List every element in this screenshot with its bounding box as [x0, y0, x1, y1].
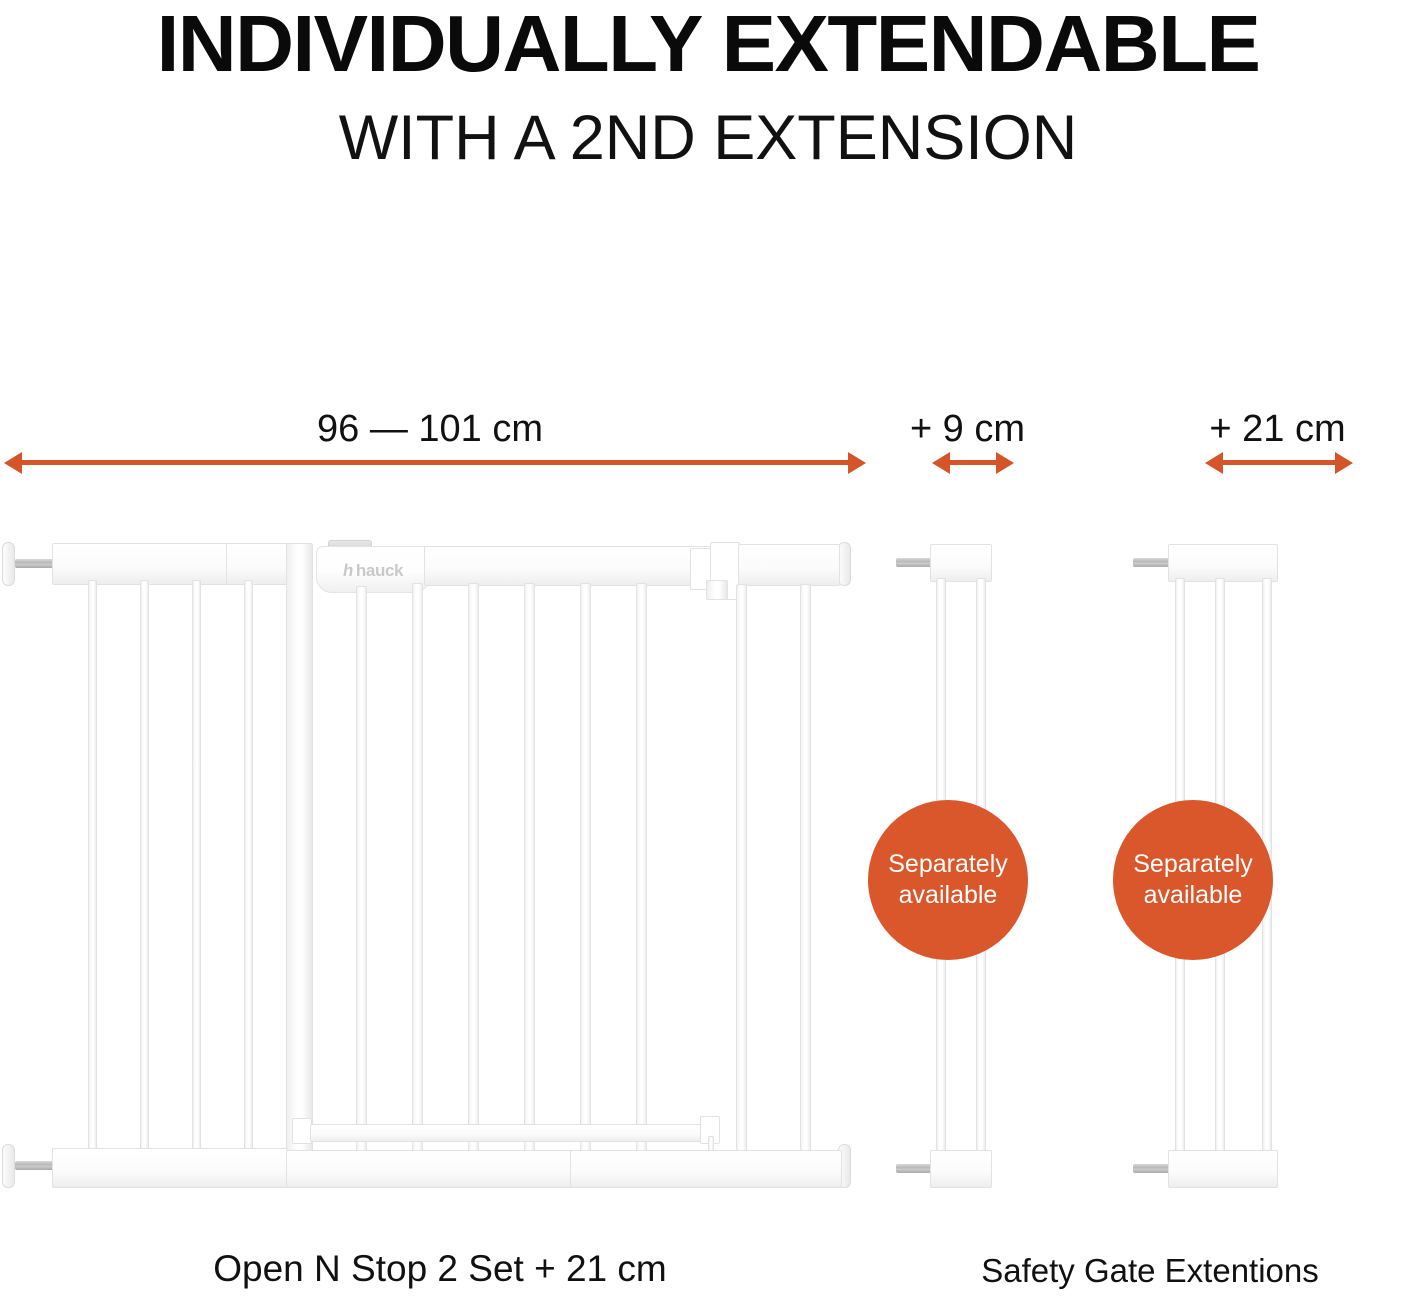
page-subtitle: WITH A 2ND EXTENSION — [0, 104, 1416, 172]
gate-door-top-rail — [424, 546, 714, 586]
gate-bottom-rail-right — [570, 1150, 842, 1188]
gate-bar-left-3 — [192, 580, 201, 1168]
gate-top-rail-left — [52, 543, 228, 585]
arrow-head-right-icon — [848, 452, 866, 474]
gate-bar-right-1 — [736, 584, 747, 1168]
gate-door-hinge-post — [286, 543, 313, 1168]
arrow-shaft — [1219, 460, 1339, 465]
dimension-label-main: 96 — 101 cm — [0, 408, 860, 451]
gate-door-bar-4 — [524, 583, 535, 1168]
arrow-head-right-icon — [1335, 452, 1353, 474]
arrow-shaft — [946, 460, 1000, 465]
arrow-head-right-icon — [996, 452, 1014, 474]
extension-large-bottom-rail — [1168, 1150, 1278, 1188]
gate-lock-stem — [706, 580, 728, 600]
extension-large-top-rail — [1168, 544, 1278, 582]
gate-bottom-rail-left — [52, 1148, 288, 1188]
gate-door-bar-2 — [412, 583, 423, 1168]
extension-small-bottom-rail — [930, 1150, 992, 1188]
status-badge-extension-small: Separately available — [868, 800, 1028, 960]
wall-pad-top-left — [2, 542, 15, 586]
gate-bar-left-1 — [88, 580, 97, 1168]
caption-extensions: Safety Gate Extentions — [890, 1252, 1410, 1290]
gate-top-rail-left-slide — [226, 543, 288, 585]
extension-small-top-rail — [930, 544, 992, 582]
dimension-arrow-main — [4, 452, 866, 474]
brand-mark-icon: h — [341, 561, 355, 581]
wall-pad-bottom-left — [2, 1144, 15, 1188]
dimension-label-extension-large: + 21 cm — [1130, 408, 1416, 451]
gate-bar-left-2 — [140, 580, 149, 1168]
gate-bar-right-2 — [800, 584, 811, 1168]
status-badge-extension-large: Separately available — [1113, 800, 1273, 960]
gate-top-rail-right — [738, 544, 840, 586]
page-title: INDIVIDUALLY EXTENDABLE — [0, 2, 1416, 86]
gate-door-bar-5 — [580, 583, 591, 1168]
gate-door-bar-1 — [356, 586, 367, 1168]
gate-door-bar-6 — [636, 583, 647, 1168]
dimension-arrow-extension-large — [1205, 452, 1353, 474]
product-infographic: INDIVIDUALLY EXTENDABLE WITH A 2ND EXTEN… — [0, 0, 1416, 1303]
caption-main-product: Open N Stop 2 Set + 21 cm — [0, 1248, 880, 1290]
brand-name: hauck — [356, 561, 403, 580]
gate-bar-left-4 — [244, 580, 253, 1168]
arrow-shaft — [18, 460, 852, 465]
dimension-arrow-extension-small — [932, 452, 1014, 474]
brand-logo: hhauck — [317, 561, 429, 581]
gate-door-bar-3 — [468, 583, 479, 1168]
gate-bottom-rail-mid — [286, 1150, 572, 1188]
gate-door-bottom-rail — [310, 1124, 710, 1142]
door-latch-catch-left — [292, 1118, 312, 1144]
dimension-label-extension-small: + 9 cm — [860, 408, 1075, 451]
